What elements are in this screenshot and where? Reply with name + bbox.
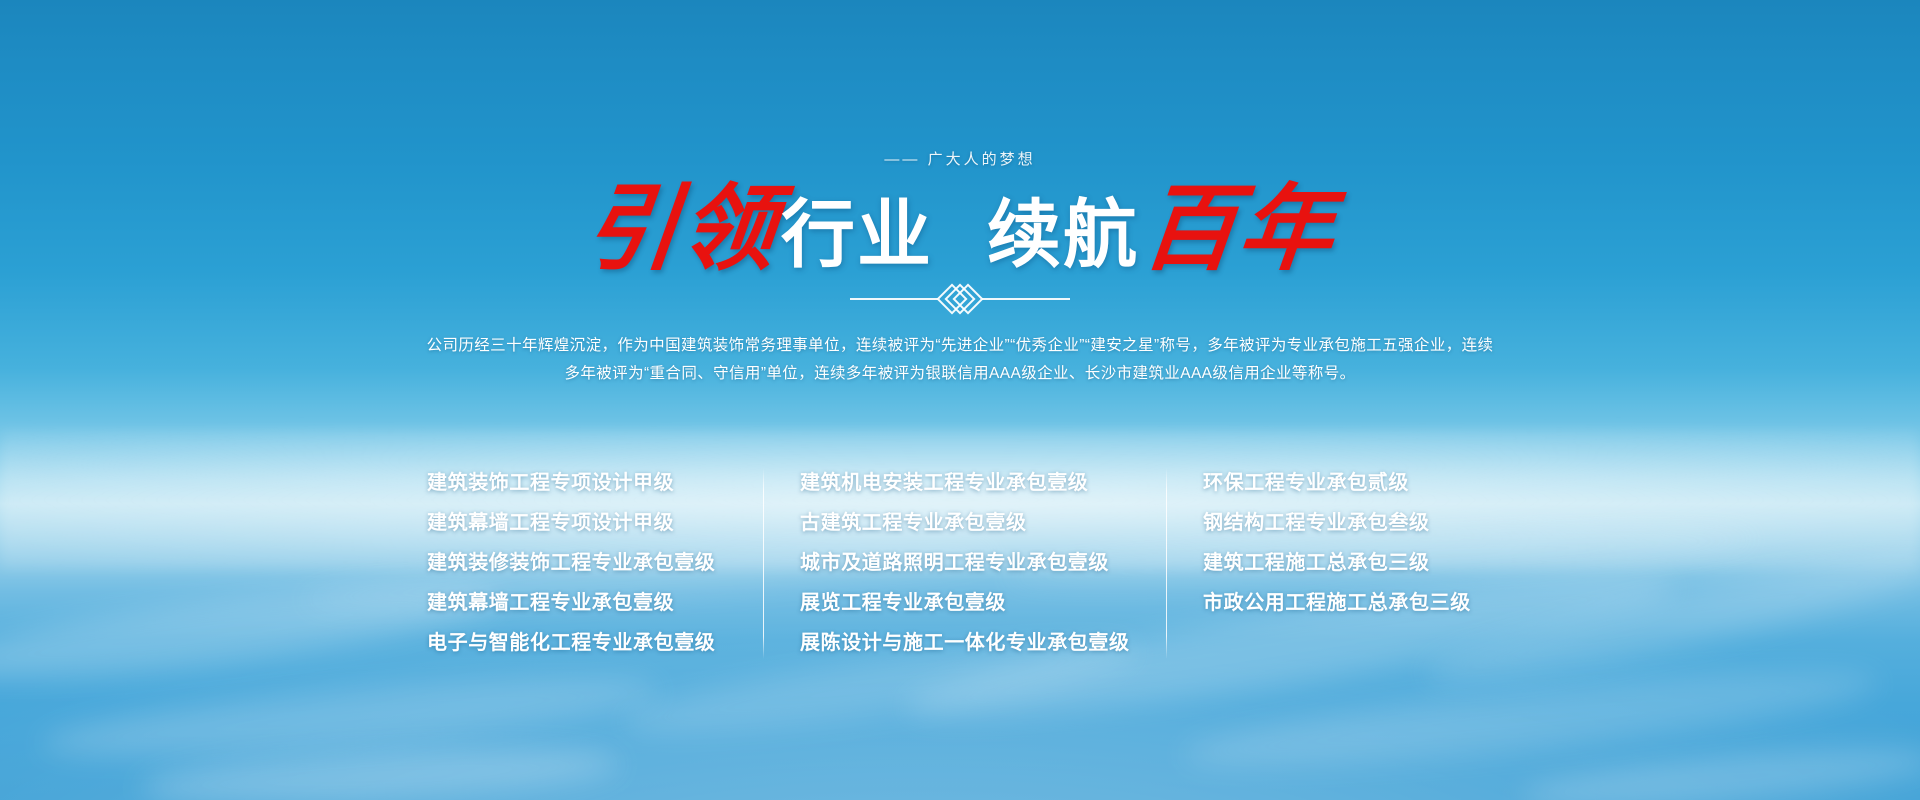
qualification-item: 城市及道路照明工程专业承包壹级 <box>800 548 1130 579</box>
qualification-item: 建筑幕墙工程专业承包壹级 <box>427 588 727 619</box>
diamond-ornament-divider <box>0 288 1920 310</box>
qualification-item: 展览工程专业承包壹级 <box>800 588 1130 619</box>
qualification-column-3: 环保工程专业承包贰级 钢结构工程专业承包叁级 建筑工程施工总承包三级 市政公用工… <box>1167 468 1493 619</box>
company-intro-paragraph: 公司历经三十年辉煌沉淀，作为中国建筑装饰常务理事单位，连续被评为“先进企业”“优… <box>410 332 1510 388</box>
divider-rule-right <box>982 298 1070 300</box>
banner-eyebrow-text: —— 广大人的梦想 <box>0 148 1920 169</box>
hero-banner: —— 广大人的梦想 引领 行业 续航 百年 公司历经三十年辉煌沉淀，作为中国建筑… <box>0 0 1920 800</box>
qualification-column-2: 建筑机电安装工程专业承包壹级 古建筑工程专业承包壹级 城市及道路照明工程专业承包… <box>764 468 1166 659</box>
headline-brush-lead: 引领 <box>580 182 782 276</box>
qualification-item: 建筑幕墙工程专项设计甲级 <box>427 508 727 539</box>
qualification-item: 建筑装修装饰工程专业承包壹级 <box>427 548 727 579</box>
intro-line-1: 公司历经三十年辉煌沉淀，作为中国建筑装饰常务理事单位，连续被评为“先进企业”“优… <box>410 332 1510 360</box>
qualification-item: 建筑工程施工总承包三级 <box>1203 548 1493 579</box>
diamond-icon-group <box>948 288 972 310</box>
banner-headline: 引领 行业 续航 百年 <box>0 174 1920 284</box>
qualification-column-1: 建筑装饰工程专项设计甲级 建筑幕墙工程专项设计甲级 建筑装修装饰工程专业承包壹级… <box>427 468 763 659</box>
qualification-item: 古建筑工程专业承包壹级 <box>800 508 1130 539</box>
qualification-item: 电子与智能化工程专业承包壹级 <box>427 628 727 659</box>
headline-solid-endurance: 续航 <box>987 198 1139 272</box>
intro-line-2: 多年被评为“重合同、守信用”单位，连续多年被评为银联信用AAA级企业、长沙市建筑… <box>410 360 1510 388</box>
qualification-item: 钢结构工程专业承包叁级 <box>1203 508 1493 539</box>
headline-brush-century: 百年 <box>1138 182 1340 276</box>
divider-rule-left <box>850 298 938 300</box>
qualification-item: 环保工程专业承包贰级 <box>1203 468 1493 499</box>
qualification-item: 建筑装饰工程专项设计甲级 <box>427 468 727 499</box>
qualification-item: 展陈设计与施工一体化专业承包壹级 <box>800 628 1130 659</box>
qualification-item: 建筑机电安装工程专业承包壹级 <box>800 468 1130 499</box>
banner-content: —— 广大人的梦想 引领 行业 续航 百年 公司历经三十年辉煌沉淀，作为中国建筑… <box>0 0 1920 800</box>
qualification-item: 市政公用工程施工总承包三级 <box>1203 588 1493 619</box>
qualifications-list: 建筑装饰工程专项设计甲级 建筑幕墙工程专项设计甲级 建筑装修装饰工程专业承包壹级… <box>427 468 1493 659</box>
headline-solid-industry: 行业 <box>781 198 933 272</box>
